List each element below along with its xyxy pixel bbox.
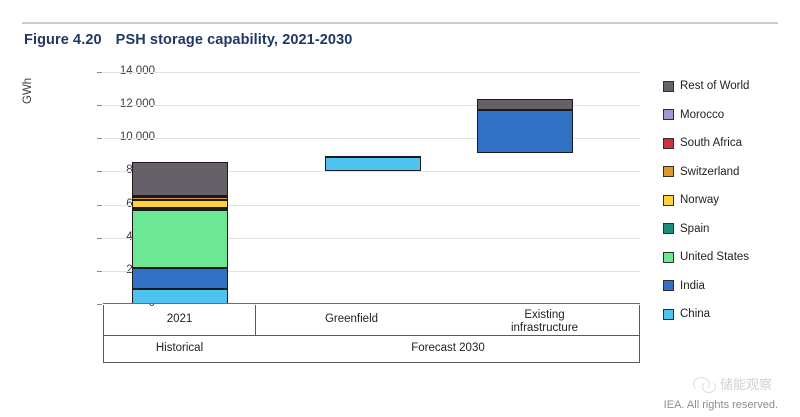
legend-item-switzerland[interactable]: Switzerland <box>663 158 798 187</box>
bar-segment-china[interactable] <box>325 157 421 171</box>
legend-item-spain[interactable]: Spain <box>663 215 798 244</box>
legend-swatch <box>663 280 674 291</box>
legend-item-united-states[interactable]: United States <box>663 243 798 272</box>
bar-segment-rest-of-world[interactable] <box>477 99 573 111</box>
legend-label: India <box>680 280 705 292</box>
bar-segment-south-africa[interactable] <box>132 196 228 198</box>
legend-item-rest-of-world[interactable]: Rest of World <box>663 72 798 101</box>
x-axis-row-divider <box>104 335 639 336</box>
x-axis-table: 2021 Greenfield Existing infrastructure … <box>103 305 640 363</box>
y-tick-mark <box>97 238 102 239</box>
legend-swatch <box>663 195 674 206</box>
legend-item-south-africa[interactable]: South Africa <box>663 129 798 158</box>
x-group-label-forecast: Forecast 2030 <box>255 342 641 355</box>
x-label-existing-infrastructure: Existing infrastructure <box>448 309 641 335</box>
y-tick-mark <box>97 271 102 272</box>
bar-segment-spain[interactable] <box>132 208 228 210</box>
copyright-credit: IEA. All rights reserved. <box>664 399 778 411</box>
y-tick-mark <box>97 72 102 73</box>
figure-title-text: PSH storage capability, 2021-2030 <box>116 32 353 48</box>
legend-swatch <box>663 138 674 149</box>
legend-swatch <box>663 252 674 263</box>
y-tick-mark <box>97 171 102 172</box>
legend-swatch <box>663 223 674 234</box>
figure-title: Figure 4.20PSH storage capability, 2021-… <box>24 32 352 48</box>
x-axis-baseline <box>103 303 640 305</box>
x-label-2021: 2021 <box>104 313 255 326</box>
header-divider <box>22 22 778 24</box>
legend-label: Morocco <box>680 109 724 121</box>
bar-segment-rest-of-world[interactable] <box>132 162 228 195</box>
x-label-existing-line2: infrastructure <box>511 322 578 334</box>
legend-label: Switzerland <box>680 166 739 178</box>
y-tick-mark <box>97 138 102 139</box>
legend-label: Norway <box>680 194 719 206</box>
bar-segment-india[interactable] <box>132 268 228 289</box>
legend-label: Rest of World <box>680 80 749 92</box>
y-axis-title: GWh <box>22 78 34 104</box>
legend-label: Spain <box>680 223 709 235</box>
bar-segment-united-states[interactable] <box>132 210 228 268</box>
legend-swatch <box>663 309 674 320</box>
wechat-watermark: 储能观察 <box>693 374 772 393</box>
y-tick-mark <box>97 205 102 206</box>
watermark-text: 储能观察 <box>720 374 772 393</box>
legend-swatch <box>663 109 674 120</box>
legend-swatch <box>663 81 674 92</box>
legend-item-morocco[interactable]: Morocco <box>663 101 798 130</box>
legend-label: South Africa <box>680 137 742 149</box>
plot-area <box>103 72 640 304</box>
x-label-greenfield: Greenfield <box>255 313 448 326</box>
bar-2021[interactable] <box>132 72 228 304</box>
legend-label: United States <box>680 251 749 263</box>
bar-segment-norway[interactable] <box>132 200 228 209</box>
legend: Rest of WorldMoroccoSouth AfricaSwitzerl… <box>663 72 798 329</box>
y-tick-mark <box>97 105 102 106</box>
bar-segment-norway[interactable] <box>325 156 421 158</box>
x-group-label-historical: Historical <box>104 342 255 355</box>
bar-segment-india[interactable] <box>477 110 573 153</box>
bar-existing-infrastructure[interactable] <box>477 72 573 304</box>
legend-item-norway[interactable]: Norway <box>663 186 798 215</box>
legend-item-india[interactable]: India <box>663 272 798 301</box>
wechat-icon <box>693 376 715 391</box>
legend-swatch <box>663 166 674 177</box>
bar-greenfield[interactable] <box>325 72 421 304</box>
figure-number: Figure 4.20 <box>24 32 102 48</box>
y-tick-mark <box>97 304 102 305</box>
legend-item-china[interactable]: China <box>663 300 798 329</box>
x-label-existing-line1: Existing <box>524 309 564 321</box>
legend-label: China <box>680 308 710 320</box>
